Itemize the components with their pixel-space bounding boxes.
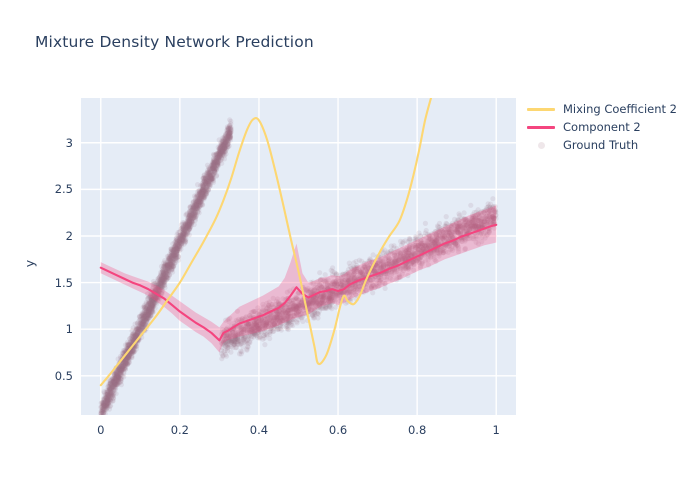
x-tick-label: 0 [97,423,104,437]
x-tick-label: 0.2 [171,423,189,437]
y-axis-title: y [22,260,37,267]
mixing-coefficient-line [101,98,431,385]
legend-label: Mixing Coefficient 2 [563,102,677,116]
legend-line-icon [525,100,557,118]
page-title: Mixture Density Network Prediction [35,33,314,51]
y-tick-label: 2 [40,229,73,243]
y-tick-label: 1.5 [40,276,73,290]
x-tick-label: 0.4 [250,423,268,437]
y-tick-label: 3 [40,136,73,150]
legend-label: Ground Truth [563,138,638,152]
legend: Mixing Coefficient 2 Component 2 Ground … [525,100,695,154]
plot-area [81,98,516,415]
x-tick-label: 0.8 [408,423,426,437]
chart-figure: Mixture Density Network Prediction y 0.5… [0,0,700,500]
legend-item-component-2[interactable]: Component 2 [525,118,695,136]
y-tick-label: 2.5 [40,182,73,196]
legend-label: Component 2 [563,120,641,134]
legend-line-icon [525,118,557,136]
y-tick-label: 0.5 [40,369,73,383]
y-tick-label: 1 [40,322,73,336]
legend-dot-icon [525,136,557,154]
legend-item-ground-truth[interactable]: Ground Truth [525,136,695,154]
plot-svg [81,98,516,415]
scatter-cluster [98,117,234,415]
legend-item-mixing-coefficient-2[interactable]: Mixing Coefficient 2 [525,100,695,118]
x-tick-label: 1 [493,423,500,437]
x-tick-label: 0.6 [329,423,347,437]
